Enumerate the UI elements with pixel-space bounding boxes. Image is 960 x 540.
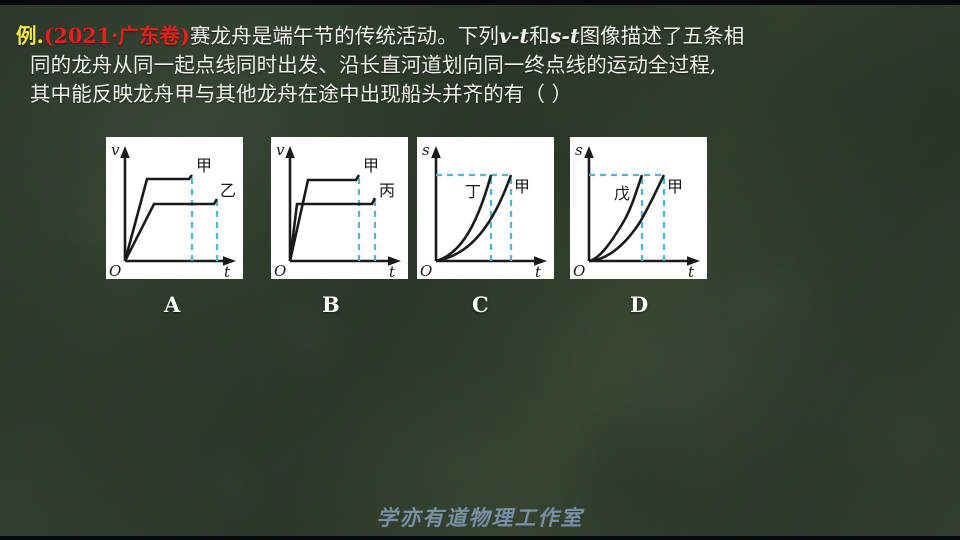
chart-a-xlabel: t — [224, 263, 231, 279]
chart-d-y-arrow — [584, 146, 594, 158]
chart-c-label-ding: 丁 — [465, 182, 481, 201]
slide-bottom-border — [0, 536, 960, 540]
chart-a-label-yi: 乙 — [220, 181, 236, 200]
slide-canvas: 例.(2021·广东卷)赛龙舟是端午节的传统活动。下列v-t和s-t图像描述了五… — [0, 0, 960, 540]
chart-d-origin: O — [573, 262, 585, 279]
chart-a-ylabel: v — [111, 141, 120, 159]
question-line-1-conjunction: 和 — [529, 24, 550, 48]
chart-panel-b: v t O 甲 丙 — [271, 137, 408, 279]
vt-symbol: v-t — [499, 24, 529, 48]
chart-c-label-jia: 甲 — [514, 177, 530, 196]
chart-a-label-jia: 甲 — [196, 156, 212, 175]
chart-panel-c: s t O 丁 甲 — [417, 137, 554, 279]
chart-a-series-jia — [125, 175, 192, 261]
question-line-3: 其中能反映龙舟甲与其他龙舟在途中出现船头并齐的有（ ） — [16, 80, 946, 109]
chart-d-label-jia: 甲 — [667, 177, 683, 196]
chart-b-label-jia: 甲 — [363, 156, 379, 175]
example-marker: 例. — [16, 24, 44, 48]
question-text: 例.(2021·广东卷)赛龙舟是端午节的传统活动。下列v-t和s-t图像描述了五… — [16, 22, 946, 109]
chart-c-axes — [436, 153, 539, 261]
option-label-a: A — [164, 292, 180, 317]
option-label-d: D — [630, 292, 648, 317]
chart-d-xlabel: t — [688, 263, 695, 279]
chart-a-dashed-lines — [192, 177, 217, 261]
chart-b-svg: v t O 甲 丙 — [271, 137, 408, 279]
exam-source: (2021·广东卷) — [44, 24, 190, 48]
chart-c-y-arrow — [431, 146, 441, 158]
option-label-b: B — [322, 292, 340, 317]
chart-b-y-arrow — [285, 146, 295, 158]
chart-a-origin: O — [109, 262, 121, 279]
chart-a-svg: v t O 甲 乙 — [106, 137, 243, 279]
st-symbol: s-t — [550, 24, 580, 48]
option-label-c: C — [472, 292, 489, 317]
chart-d-label-wu: 戊 — [614, 184, 630, 203]
chart-c-ylabel: s — [422, 141, 430, 159]
question-line-1: 例.(2021·广东卷)赛龙舟是端午节的传统活动。下列v-t和s-t图像描述了五… — [16, 22, 946, 51]
chart-c-xlabel: t — [535, 263, 542, 279]
chart-b-dashed-lines — [359, 177, 375, 261]
chart-c-origin: O — [420, 262, 432, 279]
question-line-1-part-b: 图像描述了五条相 — [580, 24, 745, 48]
question-line-2: 同的龙舟从同一起点线同时出发、沿长直河道划向同一终点线的运动全过程, — [16, 51, 946, 80]
chart-b-origin: O — [274, 262, 286, 279]
chart-d-svg: s t O 戊 甲 — [570, 137, 707, 279]
watermark-text: 学亦有道物理工作室 — [0, 502, 960, 532]
chart-d-axes — [589, 153, 692, 261]
chart-b-label-bing: 丙 — [379, 181, 395, 200]
chart-d-ylabel: s — [575, 141, 583, 159]
chart-c-svg: s t O 丁 甲 — [417, 137, 554, 279]
chart-b-ylabel: v — [276, 141, 285, 159]
chart-panel-a: v t O 甲 乙 — [106, 137, 243, 279]
chart-a-y-arrow — [120, 146, 130, 158]
slide-top-border — [0, 0, 960, 5]
question-line-1-part-a: 赛龙舟是端午节的传统活动。下列 — [190, 24, 499, 48]
chart-panel-d: s t O 戊 甲 — [570, 137, 707, 279]
chart-b-xlabel: t — [389, 263, 396, 279]
chart-b-series-jia — [290, 175, 359, 261]
